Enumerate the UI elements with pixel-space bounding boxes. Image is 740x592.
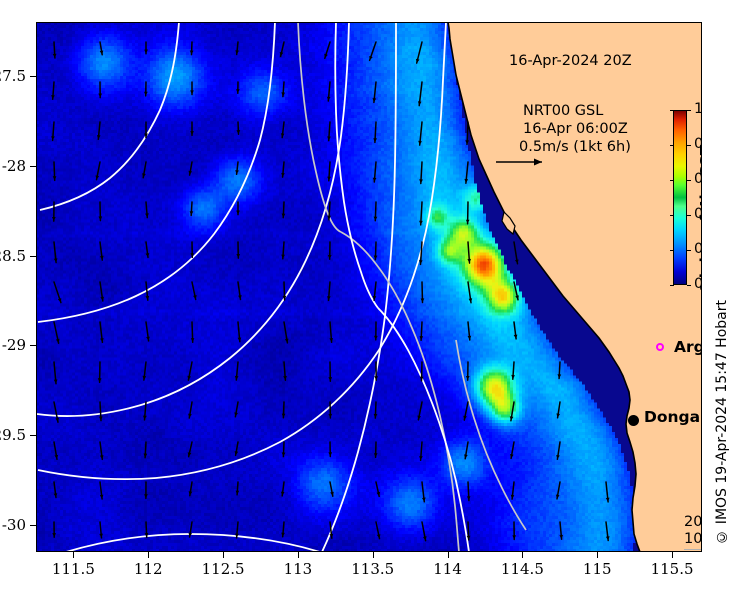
annotation-date-stamp: 16-Apr-2024 20Z — [509, 53, 632, 69]
current-vector-head — [145, 213, 149, 217]
map-overlay-layer — [36, 22, 702, 552]
y-tick-mark — [30, 76, 36, 77]
current-vector-head — [54, 379, 58, 383]
current-vector-head — [58, 298, 62, 303]
colorbar-tick-left — [670, 285, 674, 286]
current-vector-head — [190, 131, 194, 135]
current-vector-head — [281, 92, 285, 96]
current-vector-head — [369, 56, 372, 61]
vector-scale-reference-arrow — [494, 152, 558, 172]
y-tick-label: -28 — [2, 157, 26, 175]
current-vector-head — [53, 176, 57, 180]
x-tick-label: 115 — [583, 560, 612, 578]
dongara-town-label: Dongara — [644, 408, 702, 426]
current-vector-head — [144, 50, 148, 54]
current-vector-head — [419, 260, 423, 264]
y-tick-mark — [30, 256, 36, 257]
annotation-model-name: NRT00 GSL — [523, 103, 603, 119]
current-vector-head — [419, 179, 423, 183]
colorbar-tick — [687, 110, 691, 111]
current-vector-head — [420, 336, 424, 340]
current-vector-head — [52, 217, 56, 221]
current-vector-head — [236, 211, 240, 215]
current-vector-head — [143, 416, 147, 420]
x-tick-label: 112.5 — [202, 560, 245, 578]
current-vector-head — [52, 533, 56, 537]
current-vector-head — [98, 94, 102, 98]
current-vector-head — [374, 336, 378, 340]
current-vector-head — [281, 533, 285, 537]
current-vector-head — [99, 416, 103, 420]
x-tick-mark — [298, 552, 299, 558]
colorbar-tick-left — [670, 250, 674, 251]
x-tick-mark — [597, 552, 598, 558]
colorbar-tick — [687, 180, 691, 181]
y-tick-mark — [30, 166, 36, 167]
current-vector-head — [327, 177, 331, 181]
depth-label-deep: 1000m — [684, 531, 702, 548]
colorbar-tick-left — [670, 180, 674, 181]
current-vector-head — [329, 338, 333, 342]
current-vector-head — [281, 255, 285, 259]
current-vector-head — [421, 298, 425, 302]
bathymetry-depth-legend: 200m 1000m — [684, 514, 702, 550]
colorbar-tick-left — [670, 145, 674, 146]
x-tick-label: 112 — [134, 560, 163, 578]
current-vector-head — [512, 535, 516, 539]
current-vector-head — [373, 178, 377, 182]
current-vector-head — [99, 216, 103, 220]
depth-label-shallow: 200m — [684, 514, 702, 531]
y-tick-label: -29.5 — [0, 426, 26, 444]
colorbar-tick — [687, 250, 691, 251]
y-tick-label: -27.5 — [0, 67, 26, 85]
current-vector-head — [237, 130, 241, 134]
x-tick-mark — [223, 552, 224, 558]
current-vector-head — [190, 90, 194, 94]
current-vector-head — [466, 376, 470, 380]
x-tick-mark — [73, 552, 74, 558]
y-tick-mark — [30, 525, 36, 526]
current-vector-head — [418, 141, 422, 145]
current-vector-head — [374, 453, 378, 457]
current-vector-head — [374, 414, 378, 418]
current-vector-head — [51, 95, 55, 99]
map-plot-area[interactable]: 16-Apr-2024 20Z NRT00 GSL 16-Apr 06:00Z … — [36, 22, 702, 552]
current-vector-head — [374, 256, 378, 260]
y-tick-label: -29 — [2, 336, 26, 354]
x-tick-mark — [148, 552, 149, 558]
current-vector-head — [235, 376, 239, 380]
current-vector-head — [191, 338, 195, 342]
current-vector-head — [558, 374, 562, 378]
x-tick-mark — [672, 552, 673, 558]
current-vector-head — [53, 54, 57, 58]
colorbar-tick — [687, 215, 691, 216]
x-tick-label: 115.5 — [651, 560, 694, 578]
current-vector-head — [144, 92, 148, 96]
current-vector-head — [144, 494, 148, 498]
current-vector-head — [236, 491, 240, 495]
current-vector-head — [466, 220, 470, 224]
current-vector-head — [144, 454, 148, 458]
current-vector-head — [373, 138, 377, 142]
current-vector-head — [467, 259, 471, 263]
current-vector-head — [282, 214, 286, 218]
y-tick-label: -28.5 — [0, 247, 26, 265]
current-vector-head — [328, 377, 332, 381]
bathymetry-contours — [37, 22, 526, 552]
argo-legend-label: Argo — [674, 338, 702, 356]
current-vector-head — [236, 89, 240, 93]
argo-marker-icon — [656, 343, 664, 351]
x-tick-label: 114 — [433, 560, 462, 578]
colorbar-tick — [687, 285, 691, 286]
colorbar-tick-left — [670, 110, 674, 111]
y-tick-label: -30 — [2, 516, 26, 534]
colorbar-gradient — [673, 110, 687, 285]
current-vector-head — [511, 375, 515, 379]
imos-credit-text: © IMOS 19-Apr-2024 15:47 Hobart — [714, 300, 730, 545]
annotation-model-time: 16-Apr 06:00Z — [523, 121, 628, 137]
current-vector-head — [465, 140, 469, 144]
y-tick-mark — [30, 345, 36, 346]
current-vector-head — [282, 414, 286, 418]
colorbar: 00.20.40.60.81 — [673, 110, 687, 285]
current-vector-head — [236, 254, 240, 258]
current-vector-head — [328, 414, 332, 418]
current-vector-head — [190, 211, 194, 215]
colorbar-tick — [687, 145, 691, 146]
x-tick-label: 111.5 — [52, 560, 95, 578]
current-vector-head — [98, 378, 102, 382]
current-vector-head — [467, 496, 471, 500]
land-polygon — [448, 22, 702, 552]
colorbar-title: std dev of 4hr SST comp — [696, 110, 702, 285]
dongara-marker-icon — [628, 415, 639, 426]
current-vector-head — [324, 54, 328, 59]
current-vector-head — [328, 255, 332, 259]
current-vector-head — [327, 136, 331, 140]
current-vector-head — [282, 452, 286, 456]
current-vector-head — [464, 179, 468, 183]
x-tick-label: 113.5 — [351, 560, 394, 578]
current-vector-head — [190, 51, 194, 55]
x-tick-mark — [373, 552, 374, 558]
x-tick-label: 113 — [284, 560, 313, 578]
current-vector-head — [328, 452, 332, 456]
current-vector-head — [419, 221, 423, 225]
depth-legend-line — [684, 549, 702, 550]
x-tick-label: 114.5 — [501, 560, 544, 578]
x-tick-mark — [448, 552, 449, 558]
x-tick-mark — [522, 552, 523, 558]
current-vector-head — [374, 217, 378, 221]
y-tick-mark — [30, 435, 36, 436]
colorbar-tick-left — [670, 215, 674, 216]
current-vector-head — [238, 338, 242, 342]
current-vector-head — [51, 136, 55, 140]
